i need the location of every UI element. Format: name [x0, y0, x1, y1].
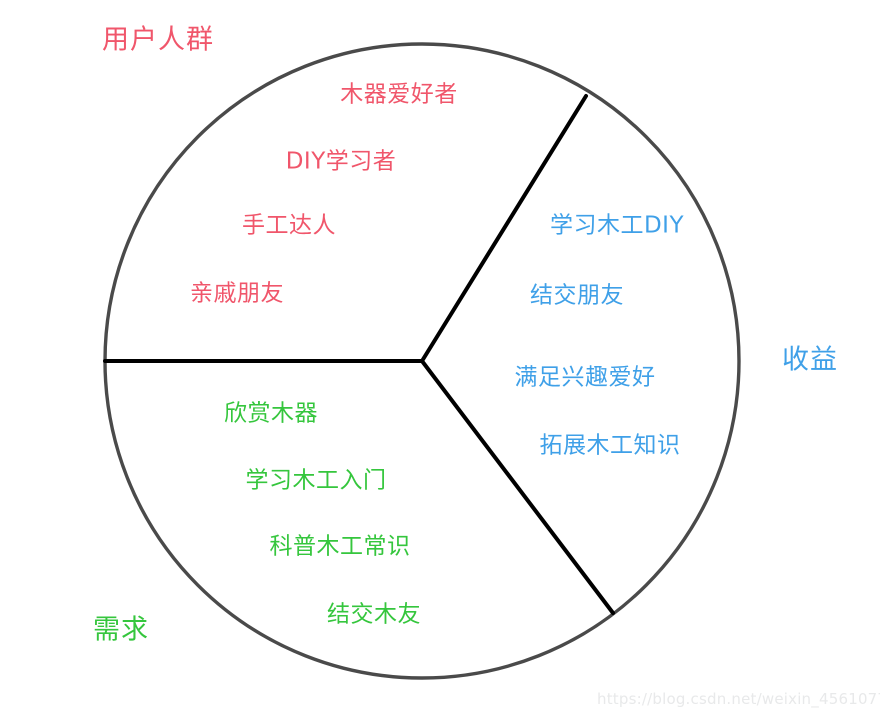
item-benefits-3: 拓展木工知识	[540, 435, 681, 458]
divider-line-lower-right	[422, 361, 613, 613]
item-users-3: 亲戚朋友	[190, 283, 284, 306]
item-benefits-2: 满足兴趣爱好	[515, 367, 656, 390]
watermark-text: https://blog.csdn.net/weixin_45610775	[597, 690, 880, 708]
sector-label-users: 用户人群	[102, 27, 214, 54]
sector-label-needs: 需求	[93, 617, 149, 644]
item-users-1: DIY学习者	[286, 151, 397, 174]
item-benefits-1: 结交朋友	[530, 285, 624, 308]
item-needs-2: 科普木工常识	[270, 536, 411, 559]
diagram-canvas: 用户人群 木器爱好者 DIY学习者 手工达人 亲戚朋友 收益 学习木工DIY 结…	[0, 0, 880, 718]
item-benefits-0: 学习木工DIY	[550, 215, 684, 238]
item-users-0: 木器爱好者	[340, 84, 458, 107]
sector-label-benefits: 收益	[782, 347, 838, 374]
item-users-2: 手工达人	[242, 215, 336, 238]
circle-diagram-svg	[0, 0, 880, 718]
item-needs-3: 结交木友	[327, 604, 421, 627]
item-needs-0: 欣赏木器	[224, 403, 318, 426]
item-needs-1: 学习木工入门	[246, 470, 387, 493]
